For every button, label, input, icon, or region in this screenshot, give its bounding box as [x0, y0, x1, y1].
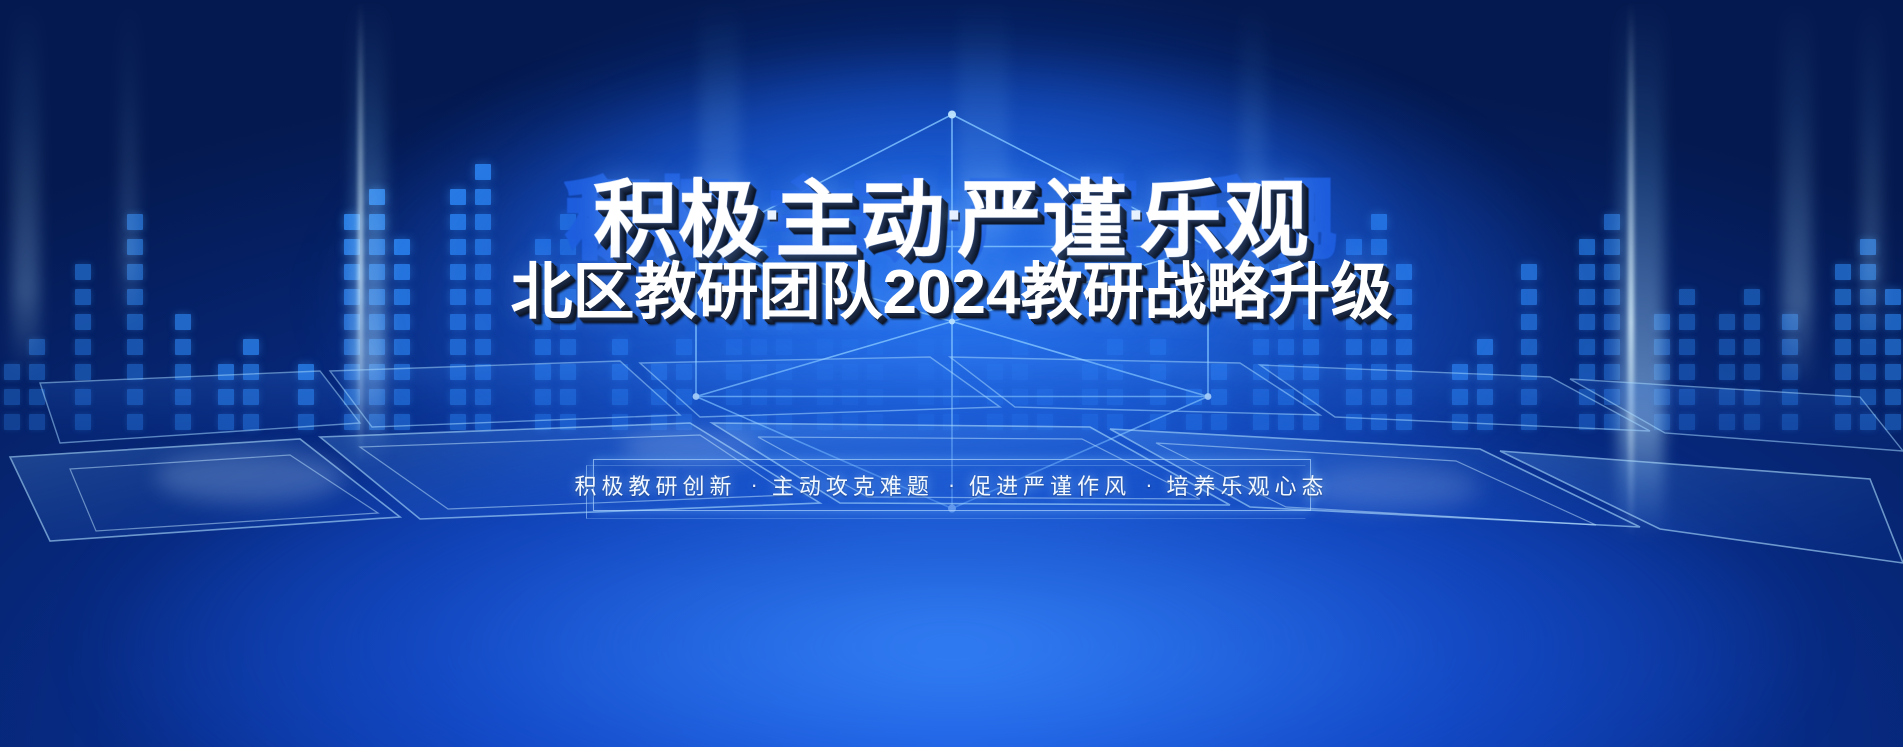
title-separator-1: ·	[763, 185, 775, 245]
title-line-2: 北区教研团队2024教研战略升级	[0, 262, 1903, 324]
title-separator-3: ·	[1128, 185, 1140, 245]
tagline-separator-2: ·	[948, 472, 955, 498]
tagline-item-1: 积极教研创新	[574, 469, 736, 501]
title-separator-2: ·	[946, 185, 958, 245]
title-segment-3: 严谨	[958, 178, 1128, 262]
title-segment-4: 乐观	[1140, 178, 1310, 262]
title-segment-1: 积极	[593, 178, 763, 262]
tagline-item-4: 培养乐观心态	[1167, 469, 1329, 501]
tagline-item-2: 主动攻克难题	[772, 469, 934, 501]
title-segment-2: 主动	[775, 178, 945, 262]
tagline-item-3: 促进严谨作风	[969, 469, 1131, 501]
headline-stage: 积极·主动·严谨·乐观 积极·主动·严谨·乐观 北区教研团队2024教研战略升级…	[0, 0, 1903, 747]
tagline: 积极教研创新 · 主动攻克难题 · 促进严谨作风 · 培养乐观心态	[593, 459, 1311, 511]
tagline-frame-wrapper: 积极教研创新 · 主动攻克难题 · 促进严谨作风 · 培养乐观心态	[593, 459, 1311, 511]
promo-banner: 积极·主动·严谨·乐观 积极·主动·严谨·乐观 北区教研团队2024教研战略升级…	[0, 0, 1903, 747]
tagline-separator-1: ·	[751, 472, 758, 498]
tagline-separator-3: ·	[1145, 472, 1152, 498]
title-line-1: 积极·主动·严谨·乐观	[0, 178, 1903, 262]
